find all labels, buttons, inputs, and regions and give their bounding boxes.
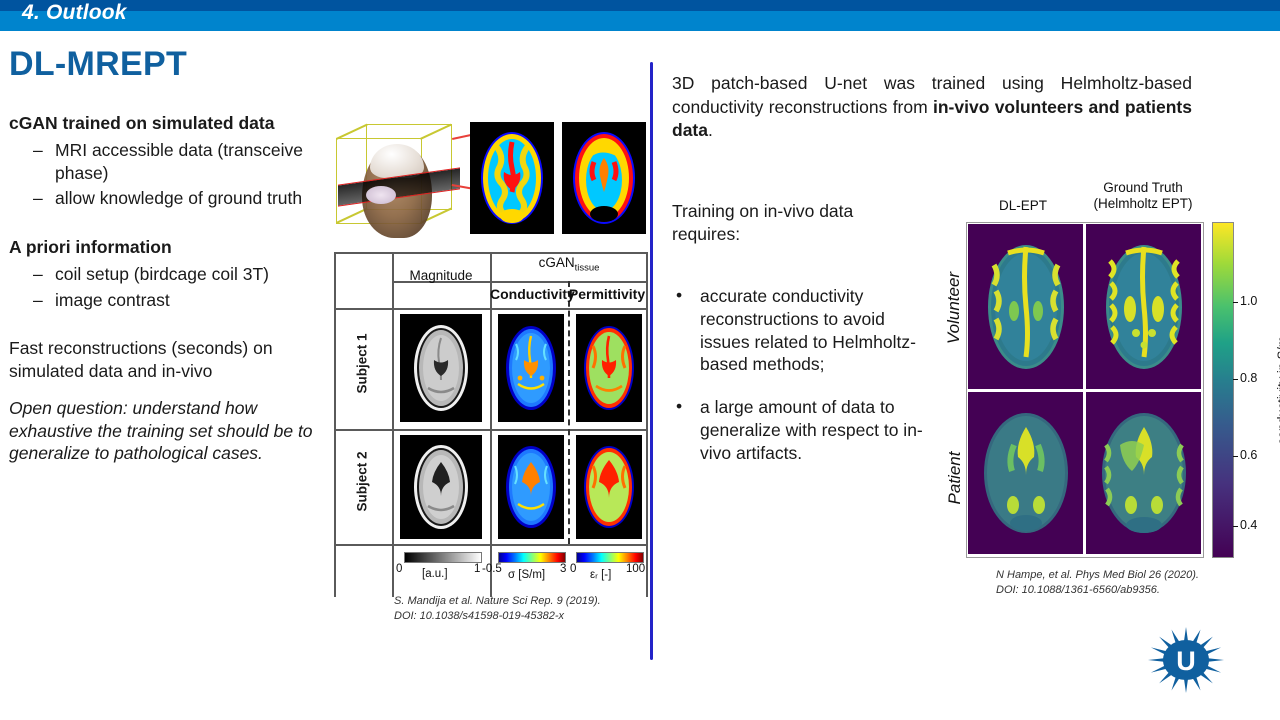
table-line: [646, 252, 648, 597]
list-item: • a large amount of data to generalize w…: [672, 396, 937, 464]
dash-glyph: –: [33, 187, 43, 210]
center-citation: S. Mandija et al. Nature Sci Rep. 9 (201…: [394, 594, 644, 624]
right-figure-colorbar: [1212, 222, 1234, 558]
list-item-label: a large amount of data to generalize wit…: [700, 397, 923, 463]
colorbar-label-conductivity: σ [S/m]: [508, 569, 545, 581]
cell-magnitude-subject1: [400, 314, 482, 422]
bullet-glyph: •: [676, 395, 682, 418]
row-header-subject-2: Subject 2: [355, 452, 370, 512]
brain-magnitude-graphic: [410, 442, 472, 532]
header-band-light: [0, 11, 1280, 31]
left-paragraph-2: Open question: understand how exhaustive…: [9, 397, 329, 465]
brain-viridis-graphic: [1096, 237, 1192, 377]
right-intro-paragraph: 3D patch-based U-net was trained using H…: [672, 72, 1192, 143]
section-label: 4. Outlook: [22, 1, 127, 25]
col-header-2-line2: (Helmholtz EPT): [1078, 196, 1208, 212]
colorbar-max-conductivity: 3: [560, 563, 566, 575]
dash-glyph: –: [33, 289, 43, 312]
colorbar-tick-2: 0.8: [1240, 371, 1257, 385]
colorbar-tickmark: [1233, 379, 1238, 380]
intro-text-part2: .: [708, 120, 713, 140]
colorbar-min-magnitude: 0: [396, 563, 402, 575]
list-item: – allow knowledge of ground truth: [9, 187, 329, 210]
brain-viridis-graphic: [978, 237, 1074, 377]
col-header-2-line1: Ground Truth: [1078, 180, 1208, 196]
panel-patient-dlept: [968, 392, 1083, 554]
list-item: – MRI accessible data (transceive phase): [9, 139, 329, 185]
citation-line-1: S. Mandija et al. Nature Sci Rep. 9 (201…: [394, 594, 644, 609]
list-item: – coil setup (birdcage coil 3T): [9, 263, 329, 286]
list-item-label: allow knowledge of ground truth: [55, 188, 302, 208]
dash-glyph: –: [33, 139, 43, 162]
colorbar-tickmark: [1233, 302, 1238, 303]
list-item: – image contrast: [9, 289, 329, 312]
cerebellum: [366, 186, 396, 204]
column-header-conductivity: Conductivity: [490, 286, 568, 302]
colorbar-tick-1: 1.0: [1240, 294, 1257, 308]
colorbar-max-magnitude: 1: [474, 563, 480, 575]
column-header-magnitude: Magnitude: [392, 268, 490, 283]
right-figure-col-header-1: DL-EPT: [968, 198, 1078, 214]
left-sublist-1: – MRI accessible data (transceive phase)…: [9, 139, 329, 210]
list-item-label: coil setup (birdcage coil 3T): [55, 264, 269, 284]
cell-permittivity-subject1: [576, 314, 642, 422]
panel-volunteer-dlept: [968, 224, 1083, 389]
right-figure-colorbar-label: conductivity in S/m: [1275, 311, 1280, 471]
segmented-slice-axial: [470, 122, 554, 234]
brain-permittivity-graphic: [580, 322, 638, 414]
brain-conductivity-graphic: [502, 442, 560, 532]
left-paragraph-1: Fast reconstructions (seconds) on simula…: [9, 337, 329, 383]
cell-permittivity-subject2: [576, 435, 642, 539]
colorbar-tick-4: 0.4: [1240, 518, 1257, 532]
citation-line-1: N Hampe, et al. Phys Med Biol 26 (2020).: [996, 568, 1256, 583]
header-band-dark: [0, 0, 1280, 11]
column-divider: [650, 62, 653, 660]
left-heading-2: A priori information: [9, 236, 329, 259]
logo-ray: [1207, 658, 1224, 662]
segmented-brain-graphic: [568, 128, 640, 228]
segmented-slice-axial-2: [562, 122, 646, 234]
sun-logo-icon: U: [1140, 620, 1232, 700]
colorbar-conductivity: [498, 552, 566, 563]
colorbar-tickmark: [1233, 526, 1238, 527]
right-figure-row-header-patient: Patient: [945, 433, 965, 523]
dash-glyph: –: [33, 263, 43, 286]
utrecht-university-logo: U: [1140, 620, 1232, 700]
column-header-permittivity: Permittivity: [568, 286, 646, 302]
colorbar-magnitude: [404, 552, 482, 563]
citation-line-2: DOI: 10.1088/1361-6560/ab9356.: [996, 583, 1256, 598]
table-dashed-divider: [568, 281, 570, 544]
brain-permittivity-graphic: [580, 442, 638, 532]
right-figure-row-header-volunteer: Volunteer: [944, 258, 964, 358]
header-band: [0, 0, 1280, 31]
list-item-label: image contrast: [55, 290, 170, 310]
list-item-label: accurate conductivity reconstructions to…: [700, 286, 916, 374]
right-figure: DL-EPT Ground Truth (Helmholtz EPT) Volu…: [930, 178, 1280, 578]
cell-conductivity-subject2: [498, 435, 564, 539]
colorbar-label-permittivity: εᵣ [-]: [590, 569, 611, 581]
colorbar-label-magnitude: [a.u.]: [422, 568, 448, 580]
colorbar-permittivity: [576, 552, 644, 563]
cell-conductivity-subject1: [498, 314, 564, 422]
results-table: Magnitude cGANtissue Conductivity Permit…: [318, 252, 648, 572]
right-figure-col-header-2: Ground Truth (Helmholtz EPT): [1078, 180, 1208, 212]
logo-ray: [1184, 627, 1188, 642]
column-header-group: cGANtissue: [490, 255, 648, 274]
brain-magnitude-graphic: [410, 322, 472, 414]
colorbar-max-permittivity: 100: [626, 563, 645, 575]
brain-conductivity-graphic: [502, 322, 560, 414]
bullet-glyph: •: [676, 284, 682, 307]
row-header-subject-1: Subject 1: [355, 334, 370, 394]
colorbar-tickmark: [1233, 456, 1238, 457]
cell-magnitude-subject2: [400, 435, 482, 539]
logo-ray: [1184, 678, 1188, 693]
colorbar-min-permittivity: 0: [570, 563, 576, 575]
table-line: [392, 252, 394, 597]
logo-letter: U: [1176, 646, 1196, 676]
panel-volunteer-groundtruth: [1086, 224, 1201, 389]
right-bullet-list: • accurate conductivity reconstructions …: [672, 285, 937, 484]
left-column: cGAN trained on simulated data – MRI acc…: [9, 112, 329, 465]
wireframe-cube: [336, 124, 454, 236]
center-figure: Magnitude cGANtissue Conductivity Permit…: [318, 112, 648, 632]
colorbar-min-conductivity: -0.5: [482, 563, 502, 575]
head-model-illustration: [332, 118, 462, 242]
page-title: DL-MREPT: [9, 45, 187, 84]
list-item: • accurate conductivity reconstructions …: [672, 285, 937, 376]
brain-viridis-graphic: [1094, 405, 1194, 541]
table-line: [490, 252, 492, 597]
left-sublist-2: – coil setup (birdcage coil 3T) – image …: [9, 263, 329, 312]
left-heading-1: cGAN trained on simulated data: [9, 112, 329, 135]
logo-ray: [1148, 658, 1165, 662]
colorbar-tick-3: 0.6: [1240, 448, 1257, 462]
right-citation: N Hampe, et al. Phys Med Biol 26 (2020).…: [996, 568, 1256, 598]
panel-patient-groundtruth: [1086, 392, 1201, 554]
right-subheading: Training on in-vivo data requires:: [672, 200, 922, 246]
segmented-brain-graphic: [476, 128, 548, 228]
list-item-label: MRI accessible data (transceive phase): [55, 140, 303, 183]
citation-line-2: DOI: 10.1038/s41598-019-45382-x: [394, 609, 644, 624]
brain-viridis-graphic: [976, 405, 1076, 541]
table-line: [334, 252, 336, 597]
